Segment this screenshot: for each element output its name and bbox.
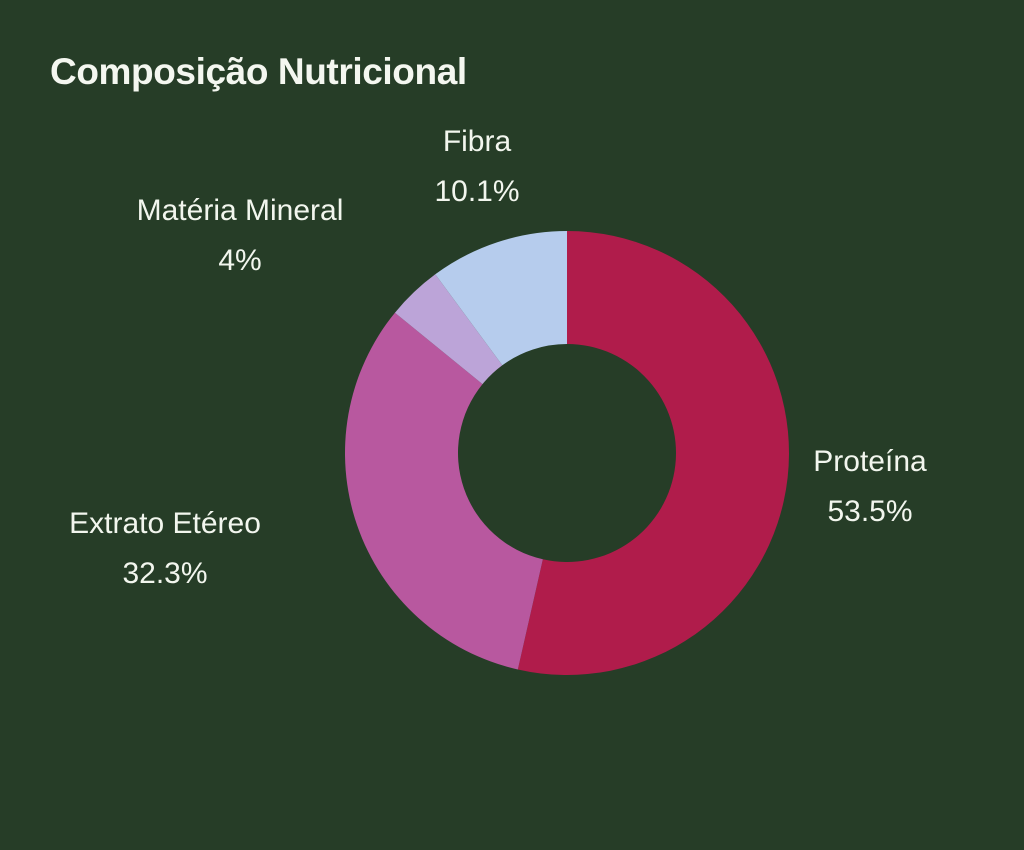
- donut-slice-2[interactable]: [345, 313, 543, 670]
- slice-label-value: 53.5%: [813, 497, 926, 527]
- chart-canvas: Composição Nutricional Proteína53.5%Extr…: [0, 0, 1024, 850]
- slice-label-value: 4%: [137, 246, 344, 276]
- slice-label-name: Proteína: [813, 447, 926, 477]
- slice-label-value: 32.3%: [69, 559, 261, 589]
- slice-label-3: Matéria Mineral4%: [137, 196, 344, 276]
- slice-label-value: 10.1%: [434, 177, 519, 207]
- slice-label-1: Proteína53.5%: [813, 447, 926, 527]
- slice-label-2: Extrato Etéreo32.3%: [69, 509, 261, 589]
- slice-label-4: Fibra10.1%: [434, 127, 519, 207]
- slice-label-name: Matéria Mineral: [137, 196, 344, 226]
- slice-label-name: Fibra: [434, 127, 519, 157]
- donut-slice-group: [345, 231, 789, 675]
- slice-label-name: Extrato Etéreo: [69, 509, 261, 539]
